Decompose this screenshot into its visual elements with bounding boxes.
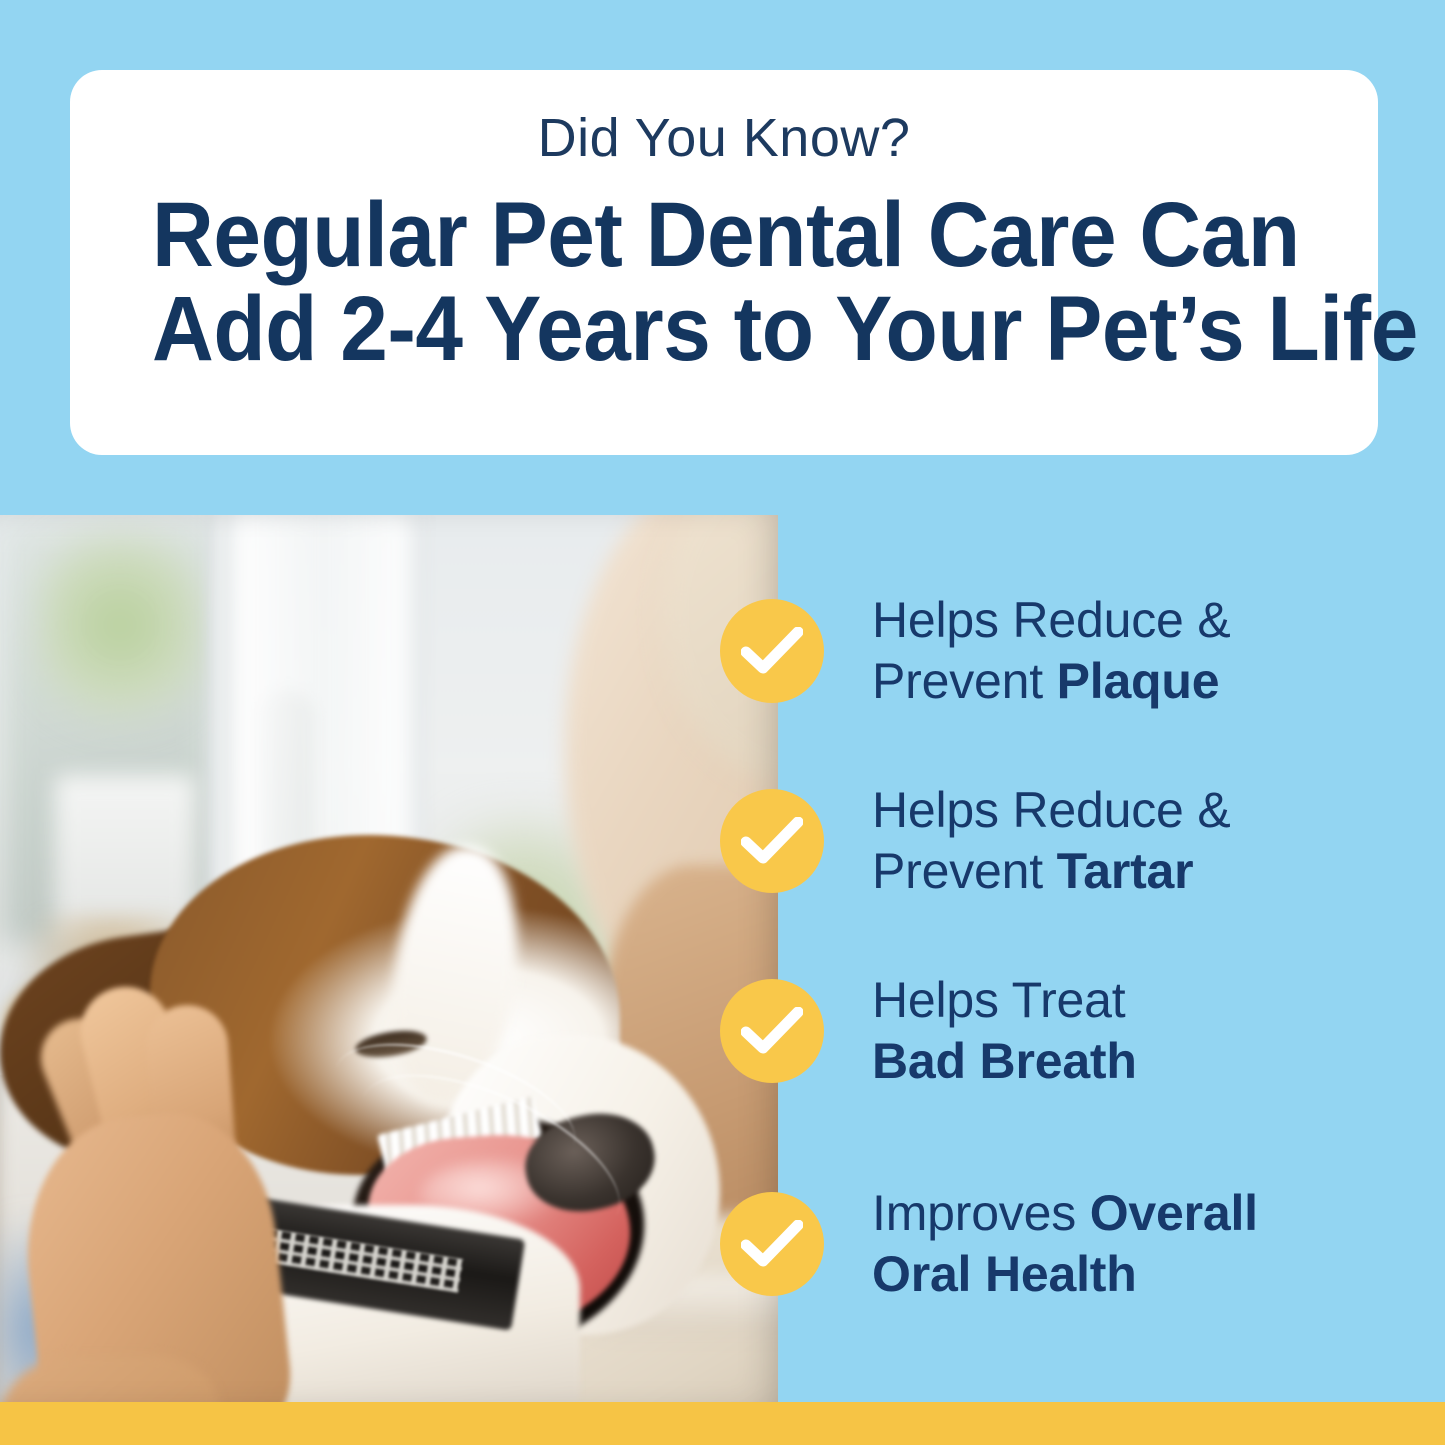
benefit-label: Improves Overall Oral Health (872, 1183, 1258, 1305)
benefit-line-1: Helps Reduce & (872, 780, 1231, 841)
benefit-line-2-bold: Plaque (1057, 653, 1220, 709)
benefit-line-2-bold: Tartar (1057, 843, 1194, 899)
check-circle-icon (720, 979, 824, 1083)
benefit-label: Helps Reduce & Prevent Tartar (872, 780, 1231, 902)
benefit-line-1: Helps Reduce & (872, 590, 1231, 651)
check-circle-icon (720, 1192, 824, 1296)
photo-edge-shadow (0, 515, 778, 1403)
benefit-line-1: Helps Treat (872, 970, 1137, 1031)
check-circle-icon (720, 599, 824, 703)
infographic-canvas: Did You Know? Regular Pet Dental Care Ca… (0, 0, 1445, 1445)
benefit-line-2-bold: Bad Breath (872, 1033, 1137, 1089)
benefit-line-2: Prevent Tartar (872, 841, 1231, 902)
footer-accent-bar (0, 1402, 1445, 1445)
eyebrow-text: Did You Know? (538, 106, 911, 171)
benefit-line-2: Oral Health (872, 1244, 1258, 1305)
headline-line-2: Add 2-4 Years to Your Pet’s Life (152, 283, 1296, 377)
check-circle-icon (720, 789, 824, 893)
headline-line-1: Regular Pet Dental Care Can (152, 189, 1296, 283)
headline-card: Did You Know? Regular Pet Dental Care Ca… (70, 70, 1378, 455)
benefit-line-1: Improves Overall (872, 1183, 1258, 1244)
benefit-line-1-plain: Improves (872, 1185, 1090, 1241)
benefit-line-2-plain: Prevent (872, 653, 1057, 709)
benefit-line-2-bold: Oral Health (872, 1246, 1137, 1302)
benefit-item-oral-health: Improves Overall Oral Health (720, 1183, 1420, 1305)
benefit-line-1-bold: Overall (1090, 1185, 1258, 1241)
benefit-line-2: Prevent Plaque (872, 651, 1231, 712)
page-title: Regular Pet Dental Care Can Add 2-4 Year… (152, 189, 1296, 377)
benefit-label: Helps Reduce & Prevent Plaque (872, 590, 1231, 712)
benefit-line-2: Bad Breath (872, 1031, 1137, 1092)
benefit-item-tartar: Helps Reduce & Prevent Tartar (720, 780, 1420, 902)
benefit-item-plaque: Helps Reduce & Prevent Plaque (720, 590, 1420, 712)
benefit-item-bad-breath: Helps Treat Bad Breath (720, 970, 1420, 1092)
benefit-line-2-plain: Prevent (872, 843, 1057, 899)
benefit-label: Helps Treat Bad Breath (872, 970, 1137, 1092)
dog-and-owner-photo (0, 515, 778, 1403)
